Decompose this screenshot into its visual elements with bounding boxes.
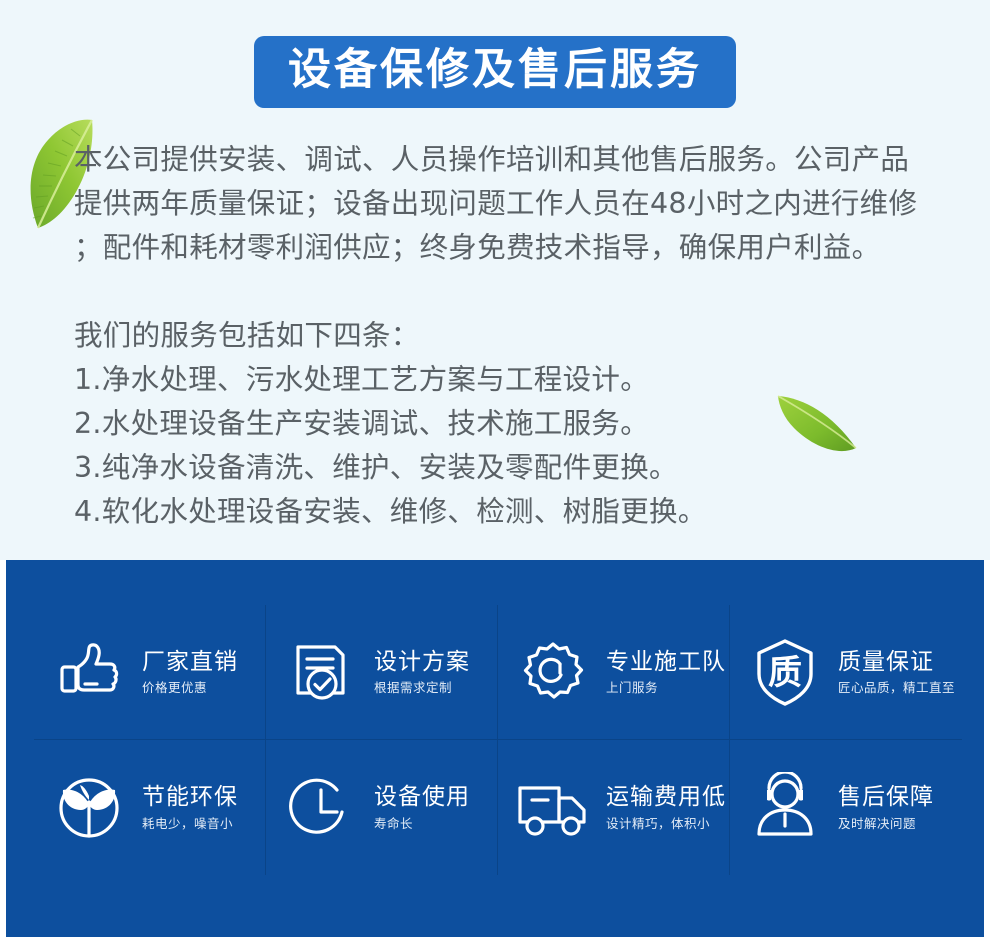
feature-item-design-plan[interactable]: 设计方案 根据需求定制 — [266, 605, 498, 740]
feature-text: 质量保证 匠心品质，精工直至 — [838, 649, 955, 696]
service-list-intro: 我们的服务包括如下四条： — [74, 314, 954, 358]
list-item: 1.净水处理、污水处理工艺方案与工程设计。 — [74, 358, 954, 402]
shield-glyph: 质 — [768, 653, 802, 693]
body-copy: 本公司提供安装、调试、人员操作培训和其他售后服务。公司产品 提供两年质量保证；设… — [74, 138, 954, 534]
feature-title: 设备使用 — [374, 784, 470, 810]
shield-quality-icon: 质 — [746, 633, 824, 711]
feature-title: 设计方案 — [374, 649, 470, 675]
feature-grid: 厂家直销 价格更优惠 设计方案 根据需求定制 — [34, 605, 962, 875]
service-list: 我们的服务包括如下四条： 1.净水处理、污水处理工艺方案与工程设计。 2.水处理… — [74, 314, 954, 534]
feature-item-shipping[interactable]: 运输费用低 设计精巧，体积小 — [498, 740, 730, 875]
feature-text: 设备使用 寿命长 — [374, 784, 470, 831]
feature-subtitle: 上门服务 — [606, 681, 726, 695]
feature-text: 厂家直销 价格更优惠 — [142, 649, 238, 696]
page-title: 设备保修及售后服务 — [254, 36, 736, 108]
list-item: 4.软化水处理设备安装、维修、检测、树脂更换。 — [74, 490, 954, 534]
feature-title: 专业施工队 — [606, 649, 726, 675]
feature-subtitle: 设计精巧，体积小 — [606, 817, 726, 831]
paragraph-line: 提供两年质量保证；设备出现问题工作人员在48小时之内进行维修 — [74, 182, 954, 226]
feature-title: 厂家直销 — [142, 649, 238, 675]
feature-text: 专业施工队 上门服务 — [606, 649, 726, 696]
feature-subtitle: 匠心品质，精工直至 — [838, 681, 955, 695]
paragraph-line: 本公司提供安装、调试、人员操作培训和其他售后服务。公司产品 — [74, 138, 954, 182]
feature-item-factory-direct[interactable]: 厂家直销 价格更优惠 — [34, 605, 266, 740]
paragraph-line: ；配件和耗材零利润供应；终身免费技术指导，确保用户利益。 — [74, 226, 954, 270]
feature-item-aftersales[interactable]: 售后保障 及时解决问题 — [730, 740, 962, 875]
truck-icon — [514, 769, 592, 847]
feature-text: 运输费用低 设计精巧，体积小 — [606, 784, 726, 831]
feature-subtitle: 根据需求定制 — [374, 681, 470, 695]
gear-icon — [514, 633, 592, 711]
feature-item-lifespan[interactable]: 设备使用 寿命长 — [266, 740, 498, 875]
feature-subtitle: 价格更优惠 — [142, 681, 238, 695]
feature-title: 节能环保 — [142, 784, 238, 810]
page-title-container: 设备保修及售后服务 — [0, 36, 990, 108]
list-item: 2.水处理设备生产安装调试、技术施工服务。 — [74, 402, 954, 446]
feature-panel: 厂家直销 价格更优惠 设计方案 根据需求定制 — [0, 560, 990, 937]
feature-title: 售后保障 — [838, 784, 934, 810]
intro-paragraph: 本公司提供安装、调试、人员操作培训和其他售后服务。公司产品 提供两年质量保证；设… — [74, 138, 954, 270]
feature-title: 运输费用低 — [606, 784, 726, 810]
feature-item-pro-team[interactable]: 专业施工队 上门服务 — [498, 605, 730, 740]
feature-text: 节能环保 耗电少，噪音小 — [142, 784, 238, 831]
thumbs-up-icon — [50, 633, 128, 711]
headset-person-icon — [746, 769, 824, 847]
feature-title: 质量保证 — [838, 649, 955, 675]
feature-subtitle: 耗电少，噪音小 — [142, 817, 238, 831]
sprout-circle-icon — [50, 769, 128, 847]
feature-text: 设计方案 根据需求定制 — [374, 649, 470, 696]
document-check-icon — [282, 633, 360, 711]
feature-subtitle: 及时解决问题 — [838, 817, 934, 831]
product-detail-page: 设备保修及售后服务 — [0, 0, 990, 937]
feature-item-quality[interactable]: 质 质量保证 匠心品质，精工直至 — [730, 605, 962, 740]
clock-icon — [282, 769, 360, 847]
feature-text: 售后保障 及时解决问题 — [838, 784, 934, 831]
feature-subtitle: 寿命长 — [374, 817, 470, 831]
spacer — [74, 270, 954, 314]
feature-item-eco[interactable]: 节能环保 耗电少，噪音小 — [34, 740, 266, 875]
list-item: 3.纯净水设备清洗、维护、安装及零配件更换。 — [74, 446, 954, 490]
